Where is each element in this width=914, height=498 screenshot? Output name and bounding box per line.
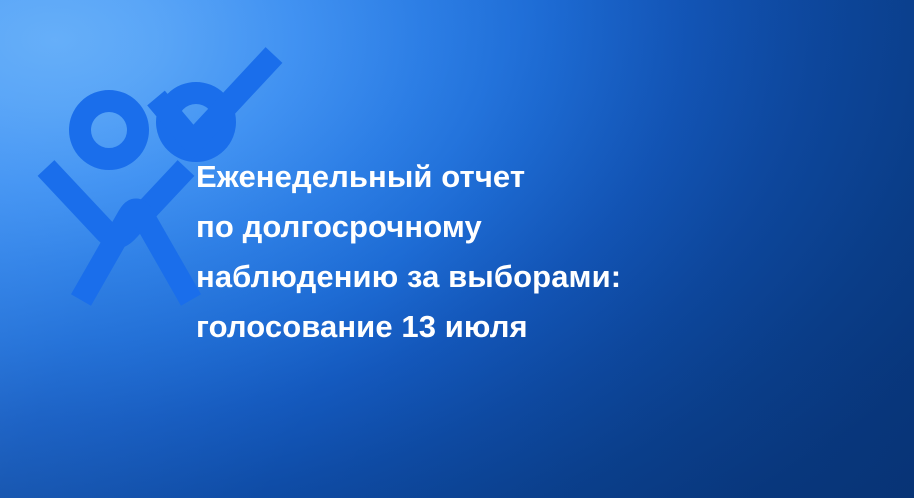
report-cover-banner: Еженедельный отчет по долгосрочному набл… <box>0 0 914 498</box>
page-title: Еженедельный отчет по долгосрочному набл… <box>196 152 836 352</box>
left-eye-ring-icon <box>80 101 138 159</box>
